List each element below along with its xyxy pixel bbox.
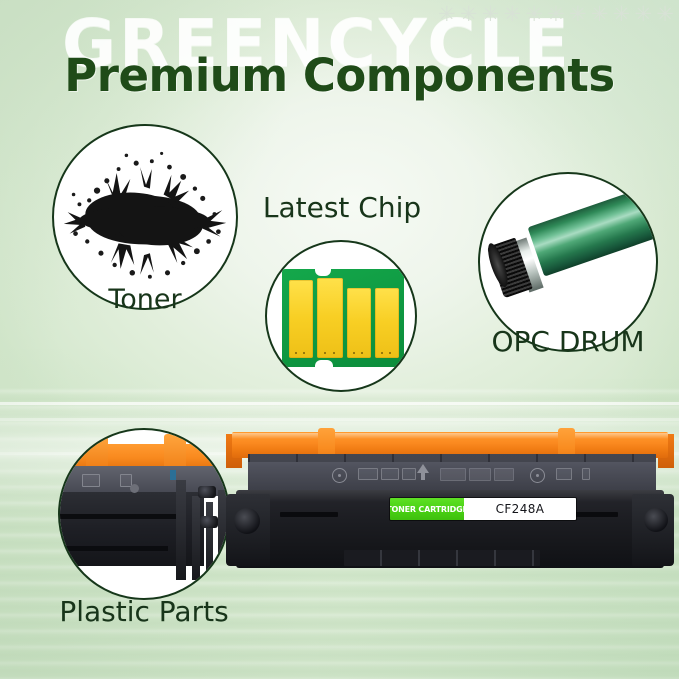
plastic-marking-1 [82,474,100,487]
feature-circle-chip [265,240,417,392]
star-icon: ✳ [482,4,500,25]
cartridge-marking-faint-1 [440,468,466,481]
plastic-peg-1 [198,486,216,498]
cartridge-marking-box-1 [358,468,378,480]
plastic-groove-2 [60,546,168,551]
cartridge-up-arrow-marking [417,464,429,473]
cartridge-arrow-stem [421,472,425,480]
cartridge-marking-box-2 [381,468,399,480]
cartridge-marking-box-3 [402,468,416,480]
opc-drum-icon [480,174,656,350]
star-icon: ✳ [438,4,456,25]
cartridge-marking-box-4 [556,468,572,480]
plastic-rib-1 [176,480,186,580]
star-icon: ✳ [591,4,609,25]
feature-label-opc-drum: OPC DRUM [468,326,668,358]
cartridge-gear-left [234,508,260,534]
star-icon: ✳ [569,4,587,25]
cartridge-label-tag: TONER CARTRIDGE [390,498,464,520]
plastic-rib-2 [192,496,200,580]
star-decoration-row: ✳✳✳✳✳✳✳✳✳✳✳ [438,1,674,27]
cartridge-gear-right [644,508,668,532]
plastic-orange-tab-left [86,436,108,470]
star-icon: ✳ [613,4,631,25]
cartridge-orange-highlight [232,433,668,439]
plastic-blue-accent [170,470,176,480]
plastic-orange-cover [58,444,230,468]
drum-cylinder [528,179,658,277]
cartridge-marking-box-5 [582,468,590,480]
infographic-canvas: GREENCYCLE ✳✳✳✳✳✳✳✳✳✳✳ Premium Component… [0,0,679,679]
chip-pad-4 [375,288,399,358]
cartridge-upper-seam-line [248,454,656,462]
feature-label-toner: Toner [52,284,238,316]
star-icon: ✳ [634,4,652,25]
product-toner-cartridge: TONER CARTRIDGE CF248A [226,432,674,578]
star-icon: ✳ [656,4,674,25]
star-icon: ✳ [460,4,478,25]
plastic-peg-2 [200,516,218,528]
star-icon: ✳ [503,4,521,25]
chip-pad-3 [347,288,371,358]
cartridge-product-label: TONER CARTRIDGE CF248A [390,498,576,520]
star-icon: ✳ [525,4,543,25]
cartridge-recycle-marking-2 [530,468,545,483]
star-icon: ✳ [547,4,565,25]
toner-powder-icon [54,126,236,308]
cartridge-slot-left [280,512,338,517]
cartridge-recycle-marking [332,468,347,483]
feature-circle-plastic-parts [58,428,230,600]
cartridge-model-number: CF248A [464,498,576,520]
feature-label-plastic-parts: Plastic Parts [44,596,244,628]
plastic-groove-1 [60,514,180,519]
cartridge-marking-faint-3 [494,468,514,481]
chip-notch-bottom [315,360,333,368]
cartridge-marking-faint-2 [469,468,491,481]
chip-pad-2 [317,278,343,358]
feature-label-chip: Latest Chip [247,192,437,224]
chip-pad-1 [289,280,313,358]
plastic-dot [130,484,139,493]
page-title: Premium Components [0,48,679,104]
plastic-rib-3 [206,502,213,580]
feature-circle-toner [52,124,238,310]
cartridge-bottom-ribs [344,550,540,566]
